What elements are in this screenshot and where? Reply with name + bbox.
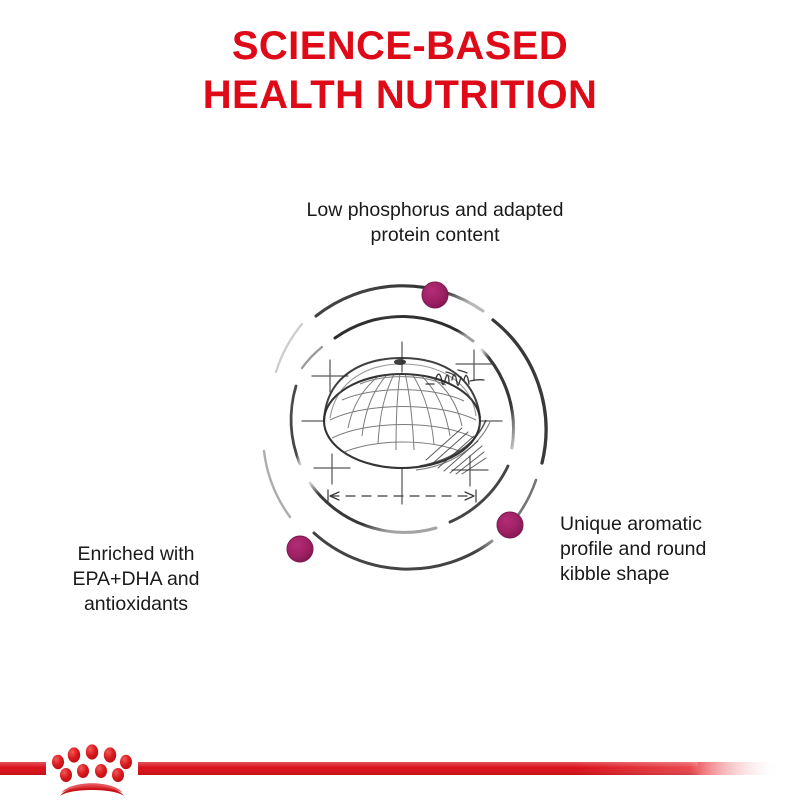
kibble-technical-sketch-diagram [250, 268, 556, 574]
marker-dot-right[interactable] [497, 512, 523, 538]
page-title: SCIENCE-BASED HEALTH NUTRITION [0, 22, 800, 120]
callout-low-phosphorus-line-2: protein content [230, 223, 640, 248]
footer-bar-right-segment [138, 762, 780, 775]
page-title-line-2: HEALTH NUTRITION [0, 71, 800, 120]
marker-dot-top[interactable] [422, 282, 448, 308]
marker-dot-bottom-left[interactable] [287, 536, 313, 562]
callout-low-phosphorus-line-1: Low phosphorus and adapted [230, 198, 640, 223]
callout-enriched-line-1: Enriched with [20, 542, 252, 567]
callout-unique-aromatic-line-1: Unique aromatic [560, 512, 792, 537]
callout-enriched-line-3: antioxidants [20, 592, 252, 617]
page-root: SCIENCE-BASED HEALTH NUTRITION Low phosp… [0, 0, 800, 800]
callout-unique-aromatic-line-2: profile and round [560, 537, 792, 562]
royal-canin-footer [0, 720, 800, 800]
callout-enriched-line-2: EPA+DHA and [20, 567, 252, 592]
callout-unique-aromatic-profile: Unique aromatic profile and round kibble… [560, 512, 792, 587]
callout-enriched-epa-dha: Enriched with EPA+DHA and antioxidants [20, 542, 252, 617]
callout-unique-aromatic-line-3: kibble shape [560, 562, 792, 587]
page-title-line-1: SCIENCE-BASED [0, 22, 800, 71]
callout-low-phosphorus: Low phosphorus and adapted protein conte… [230, 198, 640, 248]
royal-canin-crown-emblem [52, 744, 132, 796]
footer-bar-left-segment [0, 762, 46, 775]
